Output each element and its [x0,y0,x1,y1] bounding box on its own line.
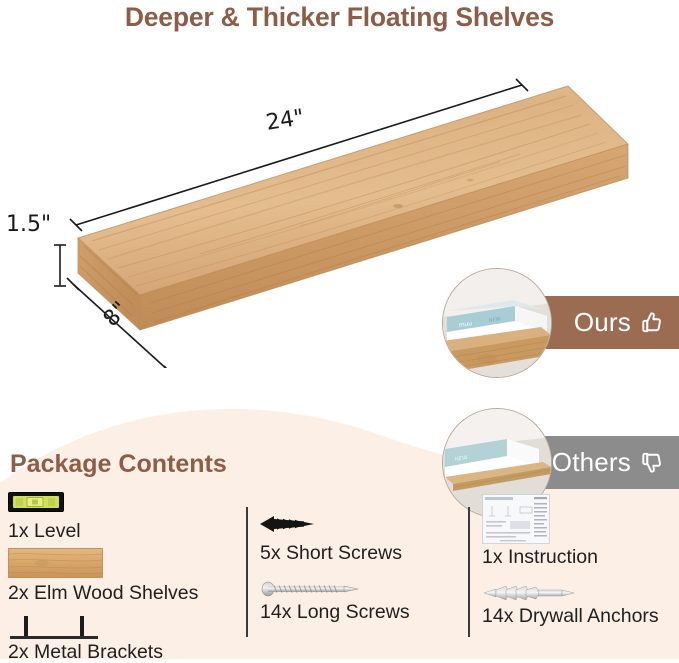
short-screw-icon [260,507,468,541]
package-contents-grid: 1x Level [8,485,676,655]
package-item-label: 5x Short Screws [260,542,468,564]
long-screw-icon [260,578,468,600]
package-item-long-screws: 14x Long Screws [260,578,468,623]
spirit-level-icon [8,485,246,519]
wood-plank-icon [8,545,246,581]
thumbs-down-icon [638,449,665,476]
comparison-card-ours: Ours muu NEW [442,268,679,380]
package-column-2: 5x Short Screws [246,507,468,637]
package-contents-heading: Package Contents [10,450,227,479]
package-item-label: 1x Level [8,520,246,542]
page-title: Deeper & Thicker Floating Shelves [0,2,679,33]
ours-label: Ours [574,307,631,338]
package-item-label: 2x Metal Brackets [8,641,246,663]
package-item-short-screws: 5x Short Screws [260,507,468,564]
package-item-label: 14x Drywall Anchors [482,605,676,627]
package-item-shelves: 2x Elm Wood Shelves [8,545,246,604]
drywall-anchor-icon [482,582,676,604]
instruction-sheet-icon [482,493,676,545]
others-label: Others [552,447,631,478]
package-item-instruction: 1x Instruction [482,493,676,568]
dimension-label-thickness: 1.5" [6,212,51,237]
package-item-level: 1x Level [8,485,246,542]
infographic-canvas: Deeper & Thicker Floating Shelves [0,0,679,659]
metal-bracket-icon [8,608,246,640]
ours-photo: muu NEW [442,268,552,378]
package-item-label: 1x Instruction [482,546,676,568]
package-item-label: 14x Long Screws [260,601,468,623]
package-item-brackets: 2x Metal Brackets [8,608,246,663]
package-column-1: 1x Level [8,485,246,655]
package-item-label: 2x Elm Wood Shelves [8,582,246,604]
thumbs-up-icon [638,309,665,336]
package-item-drywall-anchors: 14x Drywall Anchors [482,582,676,627]
package-column-3: 1x Instruction [468,507,676,637]
